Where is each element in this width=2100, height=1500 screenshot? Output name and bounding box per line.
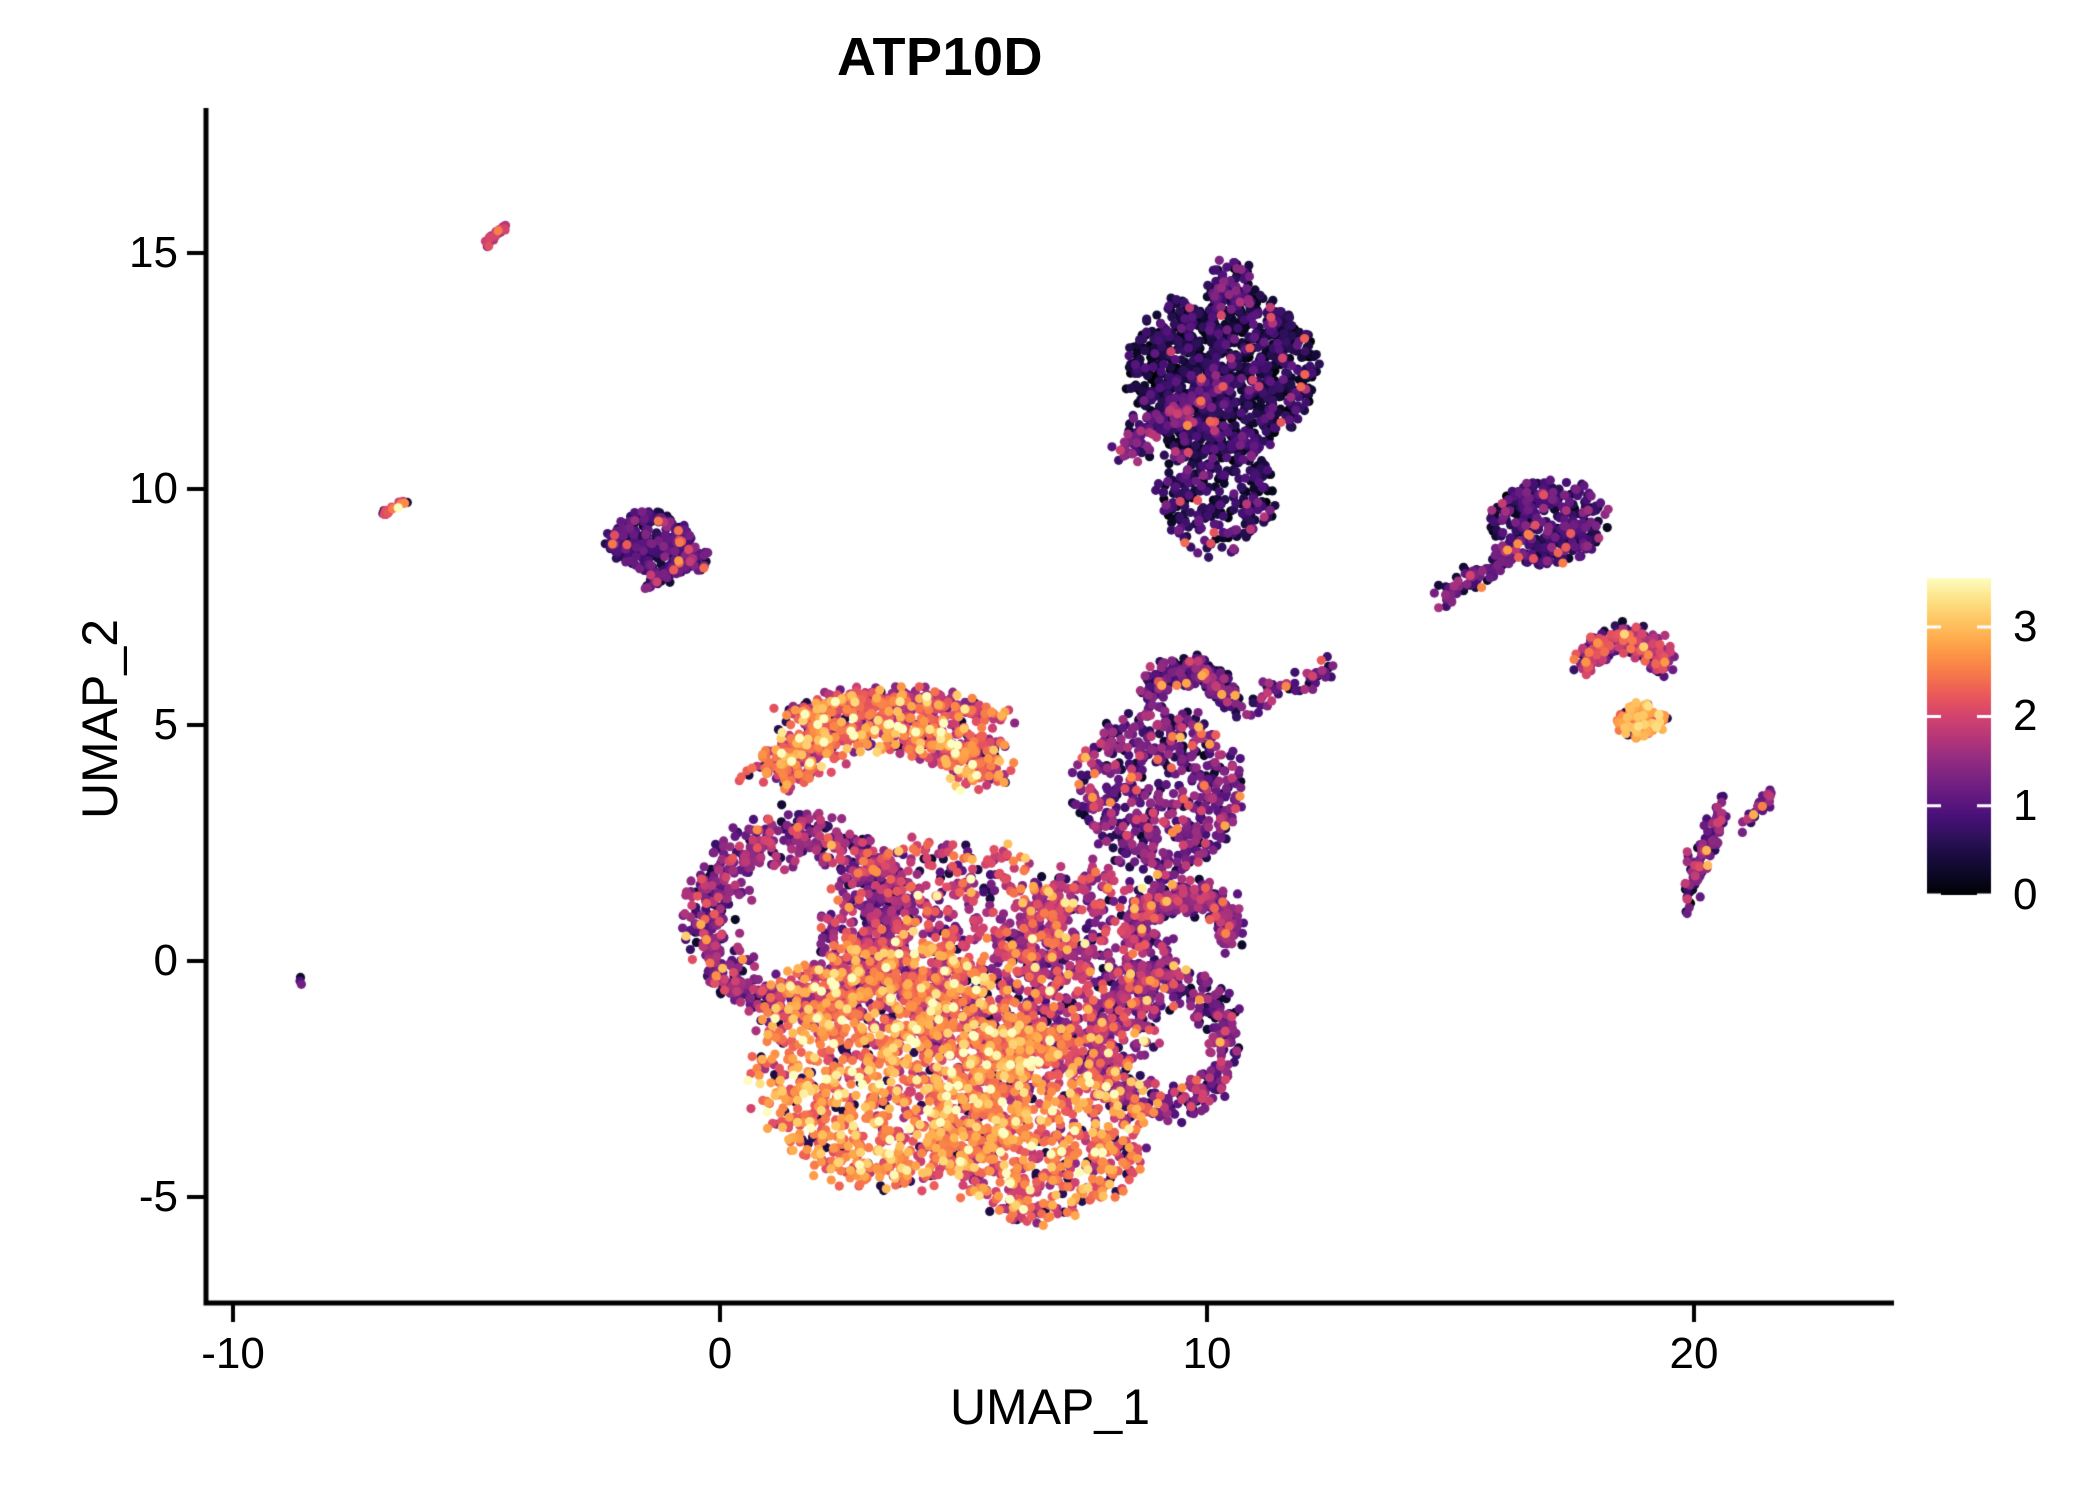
y-tick-label: 15 <box>129 228 178 278</box>
umap-feature-plot: ATP10D -1001020-5051015 UMAP_1 UMAP_2 01… <box>0 0 2100 1500</box>
y-tick-label: 5 <box>154 700 178 750</box>
x-tick-label: 0 <box>708 1329 732 1379</box>
x-tick-label: 10 <box>1183 1329 1232 1379</box>
y-tick-label: 10 <box>129 464 178 514</box>
y-tick-label: -5 <box>139 1172 178 1222</box>
y-tick-label: 0 <box>154 936 178 986</box>
x-axis-label: UMAP_1 <box>206 1378 1894 1436</box>
x-tick-label: 20 <box>1670 1329 1719 1379</box>
scatter-plot-canvas <box>0 0 2100 1500</box>
x-tick-label: -10 <box>201 1329 265 1379</box>
colorbar-tick-label: 3 <box>2013 602 2037 652</box>
colorbar-tick-label: 2 <box>2013 691 2037 741</box>
colorbar-tick-label: 0 <box>2013 870 2037 920</box>
y-axis-label: UMAP_2 <box>71 319 129 1119</box>
colorbar-tick-label: 1 <box>2013 781 2037 831</box>
